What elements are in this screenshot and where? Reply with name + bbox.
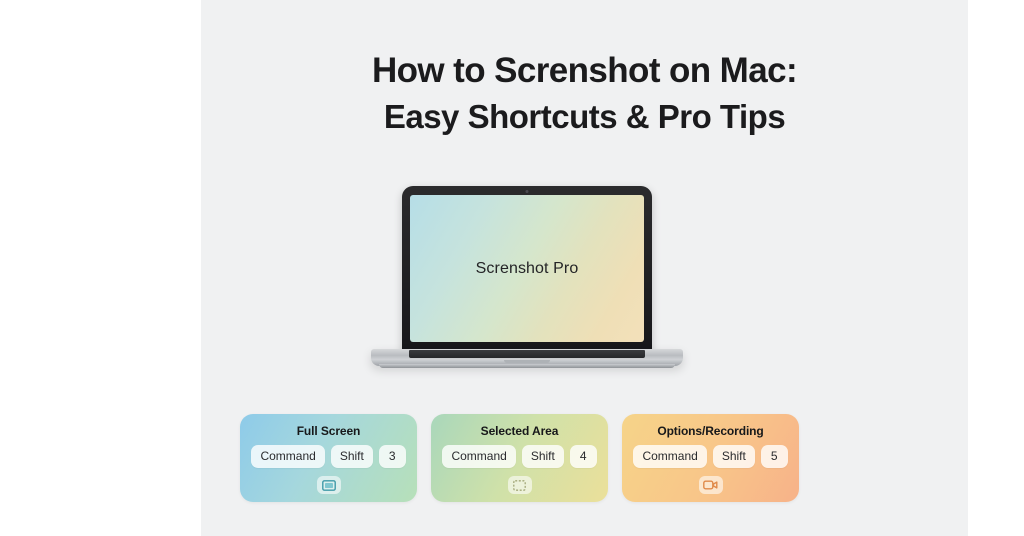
key-shift: Shift xyxy=(522,445,564,468)
key-number: 4 xyxy=(570,445,597,468)
key-shift: Shift xyxy=(331,445,373,468)
key-combo: Command Shift 4 xyxy=(442,445,596,468)
shortcut-card-list: Full Screen Command Shift 3 xyxy=(240,414,930,502)
laptop-lid-notch xyxy=(504,360,550,363)
key-number: 5 xyxy=(761,445,788,468)
video-camera-icon xyxy=(703,480,718,490)
key-combo: Command Shift 3 xyxy=(251,445,405,468)
selection-marquee-icon xyxy=(513,480,526,491)
card-title: Options/Recording xyxy=(657,424,763,438)
card-title: Selected Area xyxy=(481,424,559,438)
key-command: Command xyxy=(251,445,324,468)
shortcut-card-options-recording[interactable]: Options/Recording Command Shift 5 xyxy=(622,414,799,502)
title-line-secondary: Easy Shortcuts & Pro Tips xyxy=(201,97,968,137)
laptop-illustration: Screnshot Pro xyxy=(371,186,683,386)
content-panel: How to Screnshot on Mac: Easy Shortcuts … xyxy=(201,0,968,536)
laptop-screen: Screnshot Pro xyxy=(410,195,644,342)
card-title: Full Screen xyxy=(297,424,361,438)
key-shift: Shift xyxy=(713,445,755,468)
infographic-stage: How to Screnshot on Mac: Easy Shortcuts … xyxy=(0,0,1024,536)
key-number: 3 xyxy=(379,445,406,468)
key-combo: Command Shift 5 xyxy=(633,445,787,468)
card-icon-badge xyxy=(508,476,532,494)
laptop-keyboard-deck xyxy=(409,350,645,358)
card-icon-badge xyxy=(317,476,341,494)
card-icon-badge xyxy=(699,476,723,494)
title-line-primary: How to Screnshot on Mac: xyxy=(201,50,968,91)
shortcut-card-selected-area[interactable]: Selected Area Command Shift 4 xyxy=(431,414,608,502)
key-command: Command xyxy=(633,445,706,468)
screen-app-label: Screnshot Pro xyxy=(476,260,579,278)
shortcut-card-full-screen[interactable]: Full Screen Command Shift 3 xyxy=(240,414,417,502)
display-icon xyxy=(322,480,336,491)
laptop-front-edge xyxy=(379,364,675,368)
laptop-lid: Screnshot Pro xyxy=(402,186,652,352)
key-command: Command xyxy=(442,445,515,468)
page-title: How to Screnshot on Mac: Easy Shortcuts … xyxy=(201,50,968,137)
webcam-icon xyxy=(526,190,529,193)
